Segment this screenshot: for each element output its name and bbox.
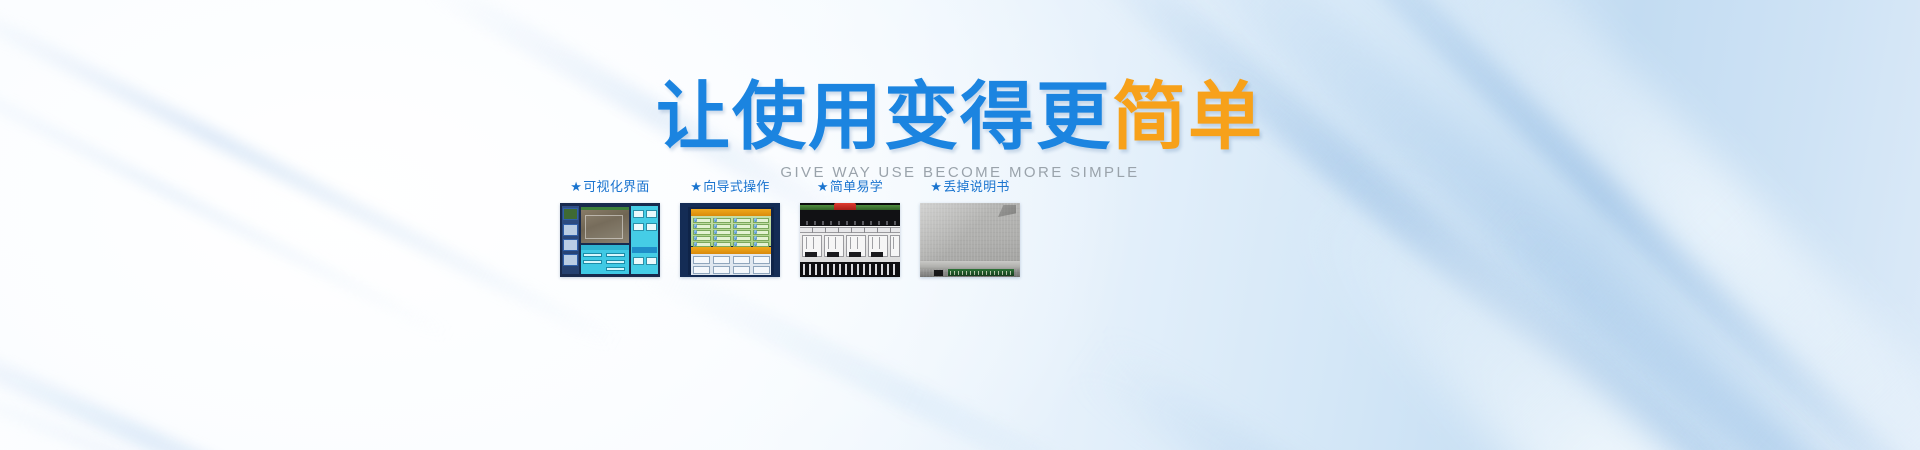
grid-bullet-icon: [734, 218, 738, 222]
headline: 让使用变得更简单: [0, 80, 1920, 154]
grid-bullet-icon: [734, 242, 738, 246]
hmi-right-button: [646, 223, 657, 231]
equipment-panel-pcb-photo[interactable]: [920, 203, 1020, 277]
cabinet-tick: [854, 221, 856, 225]
feature-label-wrap: ★简单易学: [817, 180, 883, 193]
grid-bullet-icon: [714, 224, 718, 228]
panel-button: [693, 256, 710, 264]
terminal-slot: [879, 237, 880, 249]
cabinet-tick: [862, 221, 864, 225]
cabinet-label-divider: [864, 227, 865, 233]
hmi-right-button: [646, 257, 657, 265]
terminal-slot: [806, 237, 807, 249]
cabinet-comb-tooth: [803, 264, 805, 275]
cabinet-label-divider: [877, 227, 878, 233]
cabinet-comb-tooth: [869, 264, 871, 275]
cabinet-comb-tooth: [875, 264, 877, 275]
panel-button: [753, 266, 770, 274]
cabinet-tick: [894, 221, 896, 225]
cabinet-comb-tooth: [857, 264, 859, 275]
grid-bullet-icon: [754, 230, 758, 234]
grid-bullet-icon: [694, 236, 698, 240]
hmi-camera-topbar: [581, 207, 629, 210]
cabinet-tick: [878, 221, 880, 225]
hmi-side-button: [563, 224, 578, 236]
hmi-checkbox-row: [606, 253, 625, 257]
cabinet-comb-tooth: [839, 264, 841, 275]
cabinet-comb-tooth: [809, 264, 811, 275]
cabinet-label-strip: [800, 227, 900, 233]
headline-segment-orange: 简单: [1112, 75, 1264, 158]
cabinet-tick: [814, 221, 816, 225]
cabinet-label-divider: [825, 227, 826, 233]
grid-bullet-icon: [754, 218, 758, 222]
grid-bullet-icon: [694, 242, 698, 246]
star-icon: ★: [570, 179, 582, 194]
terminal-slot: [893, 237, 894, 249]
terminal-display: [805, 252, 817, 257]
hmi-right-button: [633, 223, 644, 231]
terminal-slot: [828, 237, 829, 249]
hmi-right-button: [633, 210, 644, 218]
panel-button: [713, 266, 730, 274]
hmi-checkbox-row: [606, 267, 625, 271]
hmi-right-button: [633, 257, 644, 265]
grid-bullet-icon: [734, 230, 738, 234]
cabinet-comb-tooth: [827, 264, 829, 275]
grid-bullet-icon: [694, 230, 698, 234]
hmi-right-bar: [632, 247, 657, 253]
feature-label-wrap: ★向导式操作: [690, 180, 769, 193]
grid-bullet-icon: [734, 236, 738, 240]
terminal-display: [849, 252, 861, 257]
grid-bullet-icon: [714, 236, 718, 240]
cabinet-comb-tooth: [881, 264, 883, 275]
hmi-side-button: [563, 239, 578, 251]
hmi-right-button: [646, 210, 657, 218]
cabinet-tick: [846, 221, 848, 225]
star-icon: ★: [817, 179, 829, 194]
grid-bullet-icon: [754, 236, 758, 240]
feature-item-easy-to-learn[interactable]: ★简单易学: [800, 180, 900, 277]
grid-bullet-icon: [754, 242, 758, 246]
hmi-visual-interface-photo[interactable]: [560, 203, 660, 277]
cabinet-comb-tooth: [887, 264, 889, 275]
hmi-side-button: [563, 254, 578, 266]
panel-button: [733, 256, 750, 264]
feature-item-visual-interface[interactable]: ★可视化界面: [560, 180, 660, 277]
wizard-operation-panel-photo[interactable]: [680, 203, 780, 277]
cabinet-red-component: [834, 203, 856, 210]
grid-bullet-icon: [694, 224, 698, 228]
grid-bullet-icon: [714, 242, 718, 246]
grid-bullet-icon: [734, 224, 738, 228]
cabinet-comb-tooth: [851, 264, 853, 275]
hmi-checkbox-row: [583, 253, 602, 257]
cabinet-tick: [870, 221, 872, 225]
feature-list: ★可视化界面: [560, 180, 1020, 277]
hmi-side-button: [563, 208, 578, 220]
cabinet-comb-tooth: [845, 264, 847, 275]
cabinet-tick: [830, 221, 832, 225]
control-cabinet-terminal-photo[interactable]: [800, 203, 900, 277]
terminal-slot: [835, 237, 836, 249]
terminal-display: [871, 252, 883, 257]
panel-bottom-shadow: [920, 267, 1020, 277]
cabinet-label-divider: [890, 227, 891, 233]
promo-banner: 让使用变得更简单 GIVE WAY USE BECOME MORE SIMPLE…: [0, 0, 1920, 450]
cabinet-label-divider: [851, 227, 852, 233]
hmi-checkbox-row: [606, 260, 625, 264]
star-icon: ★: [690, 179, 702, 194]
panel-title-bar: [691, 209, 771, 216]
panel-button: [733, 266, 750, 274]
panel-button: [753, 256, 770, 264]
panel-button: [693, 266, 710, 274]
feature-label-text: 可视化界面: [583, 179, 650, 194]
terminal-slot: [857, 237, 858, 249]
terminal-display: [827, 252, 839, 257]
terminal-module: [890, 235, 900, 257]
feature-item-no-manual-needed[interactable]: ★丢掉说明书: [920, 180, 1020, 277]
cabinet-tick: [886, 221, 888, 225]
cabinet-comb-tooth: [815, 264, 817, 275]
cabinet-label-divider: [812, 227, 813, 233]
star-icon: ★: [930, 179, 942, 194]
cabinet-comb-tooth: [833, 264, 835, 275]
grid-bullet-icon: [714, 218, 718, 222]
grid-bullet-icon: [754, 224, 758, 228]
feature-item-wizard-operation[interactable]: ★向导式操作: [680, 180, 780, 277]
headline-segment-blue: 让使用变得更: [656, 75, 1112, 158]
feature-label-wrap: ★丢掉说明书: [930, 180, 1009, 193]
grid-bullet-icon: [714, 230, 718, 234]
feature-label-text: 简单易学: [830, 179, 883, 194]
cabinet-comb-tooth: [863, 264, 865, 275]
cabinet-tick: [806, 221, 808, 225]
hmi-checkbox-row: [583, 260, 602, 264]
hmi-panel-header: [581, 245, 629, 250]
panel-button: [713, 256, 730, 264]
cabinet-label-divider: [838, 227, 839, 233]
hmi-camera-outline: [585, 215, 623, 239]
cabinet-tick: [822, 221, 824, 225]
panel-section-bar: [691, 247, 771, 254]
feature-label-text: 丢掉说明书: [943, 179, 1010, 194]
cabinet-tick: [838, 221, 840, 225]
grid-bullet-icon: [694, 218, 698, 222]
terminal-slot: [813, 237, 814, 249]
cabinet-comb-tooth: [821, 264, 823, 275]
terminal-slot: [872, 237, 873, 249]
terminal-slot: [850, 237, 851, 249]
cabinet-comb-tooth: [893, 264, 895, 275]
feature-label-text: 向导式操作: [703, 179, 770, 194]
feature-label-wrap: ★可视化界面: [570, 180, 649, 193]
